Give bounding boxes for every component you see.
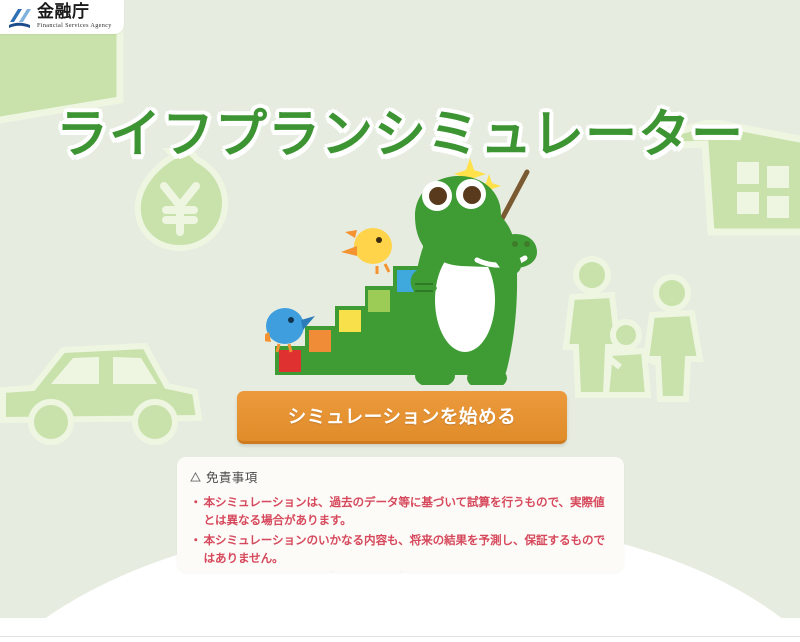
start-simulation-button[interactable]: シミュレーションを始める [237,391,567,444]
page-title-wrap: ライフプランシミュレーター [0,92,800,167]
disclaimer-item: ・ 本シミュレーション及び掲載された情報を利用することで生じるいかなる損害（直接… [190,570,611,572]
disclaimer-list: ・ 本シミュレーションは、過去のデータ等に基づいて試算を行うもので、実際値とは異… [177,486,624,572]
page-title: ライフプランシミュレーター [56,92,744,167]
car-icon [0,318,210,453]
yellow-bird-icon [341,228,392,274]
disclaimer-item: ・ 本シミュレーションのいかなる内容も、将来の結果を予測し、保証するものではあり… [190,532,611,568]
crocodile-mascot [265,150,550,385]
bullet-marker: ・ [190,494,202,530]
disclaimer-item: ・ 本シミュレーションは、過去のデータ等に基づいて試算を行うもので、実際値とは異… [190,494,611,530]
family-icon [560,255,735,415]
fsa-logo-icon [8,7,34,29]
fsa-org-name-jp: 金融庁 [37,4,112,21]
disclaimer-heading-label: 免責事項 [206,467,258,486]
fsa-header-badge[interactable]: 金融庁 Financial Services Agency [0,0,124,34]
disclaimer-item-text: 本シミュレーション及び掲載された情報を利用することで生じるいかなる損害（直接的、… [204,570,612,572]
disclaimer-panel[interactable]: 免責事項 ・ 本シミュレーションは、過去のデータ等に基づいて試算を行うもので、実… [177,457,624,572]
bullet-marker: ・ [190,570,202,572]
crocodile-body [411,176,537,385]
disclaimer-heading: 免責事項 [177,457,624,486]
start-simulation-label: シミュレーションを始める [288,403,516,429]
disclaimer-item-text: 本シミュレーションのいかなる内容も、将来の結果を予測し、保証するものではありませ… [204,532,612,568]
warning-triangle-icon [190,472,201,482]
disclaimer-item-text: 本シミュレーションは、過去のデータ等に基づいて試算を行うもので、実際値とは異なる… [204,494,612,530]
bullet-marker: ・ [190,532,202,568]
bottom-divider [0,636,800,637]
landing-page: 金融庁 Financial Services Agency ライフプランシミュレ… [0,0,800,642]
fsa-org-name-en: Financial Services Agency [37,23,112,29]
